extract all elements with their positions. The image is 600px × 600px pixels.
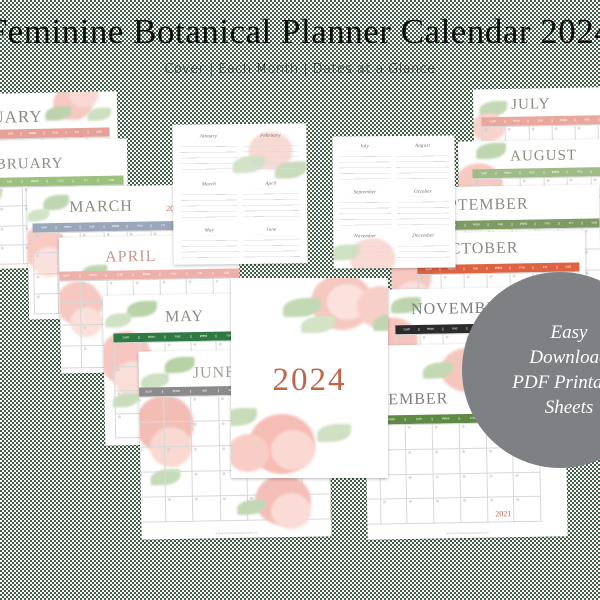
month-title-february: FEBRUARY xyxy=(0,156,64,175)
day-label: Sat xyxy=(99,178,124,182)
day-label: Thu xyxy=(128,224,152,228)
glance-lines xyxy=(397,197,449,225)
day-label: Sat xyxy=(583,221,600,225)
glance-label: January xyxy=(180,134,236,140)
day-label: Fri xyxy=(66,131,88,135)
day-label: Mon xyxy=(139,335,165,339)
day-label: Mon xyxy=(465,223,489,227)
day-label: Mon xyxy=(496,171,520,175)
glance-lines xyxy=(397,151,449,179)
glance-cell: May xyxy=(181,228,237,263)
glance-lines xyxy=(181,189,237,220)
day-label: Mon xyxy=(163,390,191,394)
glance-cell: March xyxy=(181,182,237,223)
glance-cell: November xyxy=(339,234,391,264)
day-label: Thu xyxy=(44,131,66,135)
day-label: Tue xyxy=(0,132,22,136)
sheet-footer: www.thehappyplanner.co xyxy=(368,529,568,536)
day-label: Wed xyxy=(433,417,460,421)
day-label: Wed xyxy=(544,170,568,174)
day-label: Tue xyxy=(80,225,104,229)
day-label: Sun xyxy=(417,268,440,272)
day-label: Thu xyxy=(511,266,534,270)
glance-lines xyxy=(397,241,449,261)
day-label: Wed xyxy=(134,273,161,277)
day-label: Sun xyxy=(138,390,163,394)
glance-cell: February xyxy=(242,133,298,174)
poster-subtitle: Cover | Each Month | Dates at a Glance xyxy=(164,62,435,77)
day-label: Tue xyxy=(191,389,219,393)
day-label: Sat xyxy=(557,265,579,269)
day-label: Wed xyxy=(22,132,44,136)
glance-label: May xyxy=(181,228,237,234)
promo-line-1: Easy xyxy=(551,320,588,345)
day-label: Tue xyxy=(443,327,467,331)
day-label: Fri xyxy=(592,170,600,174)
month-title-may: MAY xyxy=(165,308,204,327)
glance-label: July xyxy=(338,144,390,149)
day-label: Fri xyxy=(559,221,583,225)
day-label: Sun xyxy=(472,172,496,176)
glance-lines xyxy=(242,140,298,171)
glance-cell: December xyxy=(397,234,449,264)
month-title-june: JUNE xyxy=(193,364,236,383)
day-label: Tue xyxy=(520,171,544,175)
glance-cell: January xyxy=(180,134,236,175)
day-label: Mon xyxy=(80,273,107,277)
glance-page-1[interactable]: January February March April May June xyxy=(172,123,307,264)
poster-canvas: JANUARY Sun Mon Tue Wed Thu Fri Sat xyxy=(0,0,600,600)
glance-lines xyxy=(339,197,391,225)
sheet-footer: www.thehappyplanner.co xyxy=(142,529,332,536)
glance-label: September xyxy=(339,190,391,195)
day-label: Tue xyxy=(464,267,487,271)
cover-page[interactable]: 2024 xyxy=(231,278,388,478)
day-label: Sat xyxy=(88,130,109,134)
day-label: Mon xyxy=(441,267,464,271)
day-label: Thu xyxy=(576,118,600,122)
day-label: Wed xyxy=(512,222,536,226)
day-label: Fri xyxy=(73,179,99,183)
day-label: Sun xyxy=(33,226,57,230)
glance-label: February xyxy=(242,133,298,139)
day-label: Sun xyxy=(113,336,139,340)
poster-title: Feminine Botanical Planner Calendar 2024 xyxy=(0,14,600,50)
day-label: Tue xyxy=(165,335,191,339)
day-label: Fri xyxy=(187,272,214,276)
floral-decoration xyxy=(281,278,388,348)
poster-header: Feminine Botanical Planner Calendar 2024… xyxy=(0,0,600,88)
day-label: Fri xyxy=(152,224,176,228)
day-label: Tue xyxy=(0,180,22,184)
day-label: Wed xyxy=(22,180,48,184)
glance-lines xyxy=(180,141,236,172)
month-title-march: MARCH xyxy=(69,198,133,217)
glance-label: November xyxy=(339,234,391,239)
day-label: Wed xyxy=(552,118,576,122)
day-label: Wed xyxy=(104,225,128,229)
day-label: Fri xyxy=(534,266,557,270)
day-label: Wed xyxy=(191,334,217,338)
day-label: Wed xyxy=(487,266,510,270)
day-label: Thu xyxy=(536,222,560,226)
month-title-january: JANUARY xyxy=(0,107,43,129)
glance-cell: April xyxy=(243,181,299,222)
day-label: Tue xyxy=(107,273,134,277)
day-label: Mon xyxy=(56,225,80,229)
day-label: Tue xyxy=(406,417,433,421)
glance-cell: July xyxy=(338,144,390,182)
day-label: Sat xyxy=(214,271,240,275)
day-label: Sun xyxy=(395,328,419,332)
floral-decoration xyxy=(231,400,357,478)
glance-label: December xyxy=(397,234,449,239)
glance-page-2[interactable]: July August September October November D… xyxy=(332,135,455,268)
glance-label: June xyxy=(243,227,299,233)
glance-lines xyxy=(181,235,237,260)
glance-lines xyxy=(339,151,391,179)
month-year-december: 2021 xyxy=(495,509,511,518)
cover-year: 2024 xyxy=(231,362,388,399)
glance-label: October xyxy=(397,190,449,195)
month-title-july: JULY xyxy=(511,96,550,114)
day-label: Mon xyxy=(419,327,443,331)
glance-label: August xyxy=(396,144,448,149)
day-label: Sun xyxy=(481,120,505,124)
glance-lines xyxy=(243,188,299,219)
glance-cell: September xyxy=(339,190,391,228)
day-label: Mon xyxy=(505,119,529,123)
day-label: Tue xyxy=(489,223,513,227)
month-title-august: AUGUST xyxy=(510,148,577,166)
day-label: Thu xyxy=(48,179,74,183)
glance-label: March xyxy=(181,182,237,188)
glance-cell: October xyxy=(397,190,449,228)
glance-lines xyxy=(243,234,299,259)
day-label: Tue xyxy=(529,119,553,123)
day-label: Thu xyxy=(568,170,592,174)
month-title-april: APRIL xyxy=(105,248,157,267)
glance-lines xyxy=(339,241,391,261)
glance-label: April xyxy=(243,181,299,187)
day-label: Thu xyxy=(160,272,187,276)
promo-line-3: PDF Printable xyxy=(512,370,600,395)
glance-cell: August xyxy=(396,144,448,182)
promo-line-2: Download xyxy=(529,345,600,370)
promo-line-4: Sheets xyxy=(545,395,594,420)
day-label: Sun xyxy=(59,274,80,278)
glance-cell: June xyxy=(243,227,299,262)
